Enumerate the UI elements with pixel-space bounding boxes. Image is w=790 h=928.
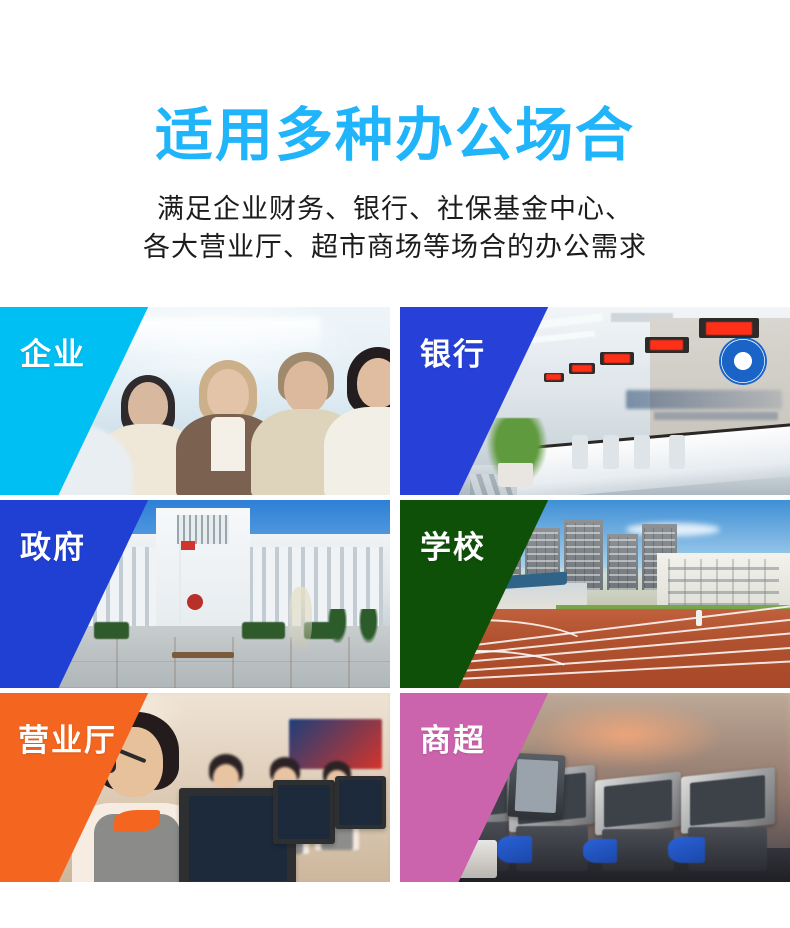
runner-figure: [696, 610, 702, 626]
bank-stool-3: [634, 435, 650, 469]
page-subtitle: 满足企业财务、银行、社保基金中心、 各大营业厅、超市商场等场合的办公需求: [0, 190, 790, 267]
bank-wall-text: [626, 390, 782, 409]
scenario-label-business-hall: 营业厅: [18, 725, 117, 756]
scenario-tile-business-hall[interactable]: 营业厅: [0, 693, 390, 882]
plaza-shrub-1: [94, 622, 129, 639]
bank-wall-subtext: [654, 412, 779, 420]
apartment-tower-4: [564, 519, 603, 590]
plaza-bench: [172, 652, 234, 658]
scanner-3: [668, 837, 705, 863]
led-sign-1: [699, 318, 759, 338]
scanner-2: [583, 839, 617, 864]
bank-stool-4: [669, 435, 685, 469]
scanner-1: [497, 836, 531, 863]
page-title: 适用多种办公场合: [0, 104, 790, 168]
scenario-tile-government[interactable]: 政府: [0, 500, 390, 688]
led-sign-4: [569, 363, 595, 374]
promo-page: 适用多种办公场合 满足企业财务、银行、社保基金中心、 各大营业厅、超市商场等场合…: [0, 0, 790, 928]
scenario-tile-bank[interactable]: 银行: [400, 307, 790, 495]
plaza-shrub-2: [242, 622, 285, 639]
bank-stool-1: [572, 435, 588, 469]
school-dormitory: [657, 553, 790, 609]
hall-monitor-2: [273, 780, 335, 844]
subtitle-line-2: 各大营业厅、超市商场等场合的办公需求: [0, 228, 790, 266]
led-sign-5: [544, 373, 564, 382]
pos-tablet-display: [508, 752, 566, 819]
plaza-tree-2: [359, 609, 379, 643]
scenario-label-school: 学校: [420, 532, 486, 563]
pos-terminal-4: [681, 772, 775, 870]
scenario-tile-supermarket[interactable]: 商超: [400, 693, 790, 882]
apartment-tower-5: [607, 534, 638, 590]
scenario-tile-school[interactable]: 学校: [400, 500, 790, 688]
hall-monitor-3: [335, 776, 386, 829]
bank-stool-2: [603, 435, 619, 469]
scenario-grid: 企业: [0, 307, 790, 880]
page-header: 适用多种办公场合 满足企业财务、银行、社保基金中心、 各大营业厅、超市商场等场合…: [0, 0, 790, 266]
subtitle-line-1: 满足企业财务、银行、社保基金中心、: [0, 190, 790, 228]
led-sign-3: [600, 352, 634, 365]
bank-logo-icon: [719, 337, 767, 385]
led-sign-2: [645, 337, 689, 353]
scenario-label-enterprise: 企业: [20, 339, 86, 370]
flag-pole: [179, 541, 181, 624]
plaza-fountain: [289, 587, 312, 651]
office-person-4: [335, 337, 390, 495]
scenario-label-government: 政府: [20, 532, 86, 563]
pos-terminal-3: [595, 776, 681, 871]
bank-plant-pot: [498, 463, 533, 487]
scenario-label-bank: 银行: [420, 339, 486, 370]
scenario-label-supermarket: 商超: [420, 725, 486, 756]
plaza-tree-1: [328, 609, 348, 643]
scenario-tile-enterprise[interactable]: 企业: [0, 307, 390, 495]
